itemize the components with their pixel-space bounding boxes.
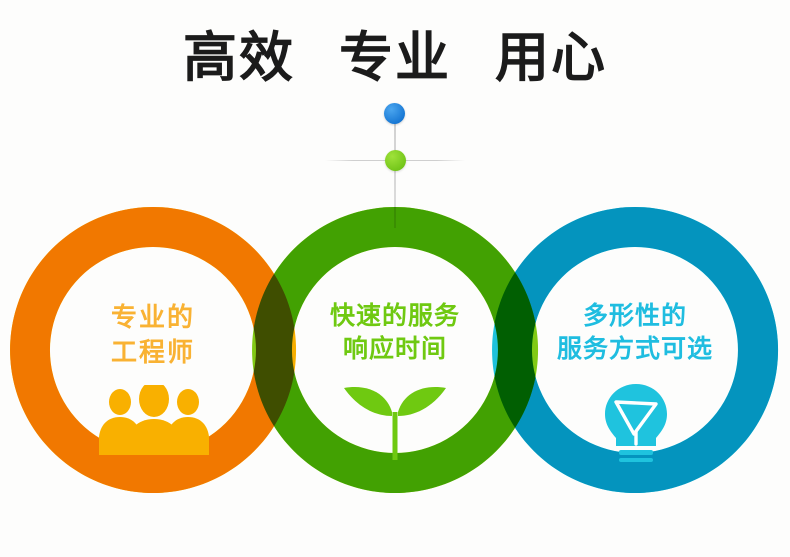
circle-label-line-2: 响应时间 [288,333,502,366]
circle-label-flexible-service-modes: 多形性的 服务方式可选 [525,300,745,367]
circle-label-fast-service-response: 快速的服务 响应时间 [288,300,502,367]
circle-label-line-1: 多形性的 [525,300,745,333]
venn-diagram [0,0,790,557]
poster-canvas: 高效专业用心 专业的 工程师 [0,0,790,557]
sprout-icon [340,382,450,460]
circle-label-line-1: 快速的服务 [288,300,502,333]
lightbulb-icon [598,382,674,462]
circle-label-line-2: 服务方式可选 [525,333,745,366]
people-icon [95,385,213,455]
circle-label-line-2: 工程师 [53,335,253,370]
circle-label-line-1: 专业的 [53,300,253,335]
circle-label-professional-engineers: 专业的 工程师 [53,300,253,369]
